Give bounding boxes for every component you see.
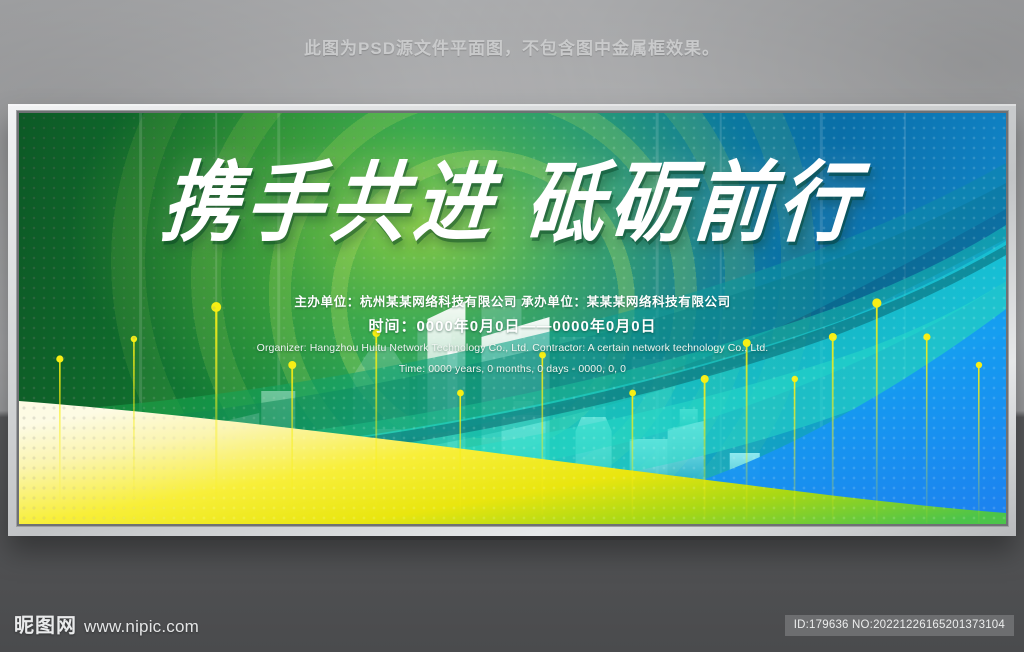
screenshot-root: 此图为PSD源文件平面图，不包含图中金属框效果。 <box>0 0 1024 652</box>
metal-frame: 携手共进砥砺前行 主办单位：杭州某某网络科技有限公司 承办单位：某某某网络科技有… <box>8 104 1016 536</box>
time-line-cn: 时间：0000年0月0日——0000年0月0日 <box>19 315 1006 336</box>
poster-canvas: 携手共进砥砺前行 主办单位：杭州某某网络科技有限公司 承办单位：某某某网络科技有… <box>19 113 1006 524</box>
organizer-line-en: Organizer: Hangzhou Huitu Network Techno… <box>19 342 1006 354</box>
time-line-en: Time: 0000 years, 0 months, 0 days - 000… <box>19 363 1006 375</box>
site-watermark: 昵图网 www.nipic.com <box>14 609 199 638</box>
watermark-url: www.nipic.com <box>84 617 199 637</box>
organizer-line-cn: 主办单位：杭州某某网络科技有限公司 承办单位：某某某网络科技有限公司 <box>19 291 1006 310</box>
asset-id-badge: ID:179636 NO:20221226165201373104 <box>785 615 1014 636</box>
poster-subtitle-block: 主办单位：杭州某某网络科技有限公司 承办单位：某某某网络科技有限公司 时间：00… <box>19 291 1006 375</box>
watermark-brand-cn: 昵图网 <box>14 609 77 638</box>
top-caption: 此图为PSD源文件平面图，不包含图中金属框效果。 <box>0 34 1024 59</box>
